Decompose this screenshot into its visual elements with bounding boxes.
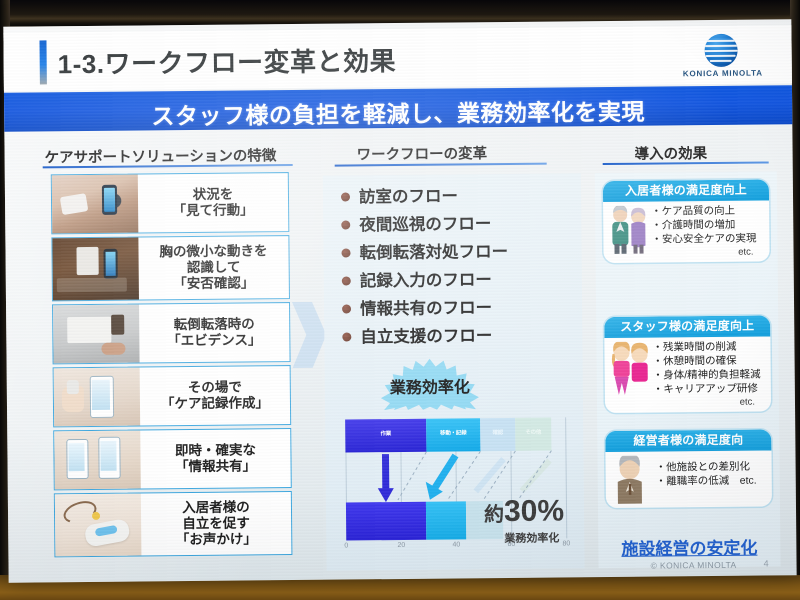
effect-box-title: 入居者様の満足度向上 (603, 179, 769, 202)
bar-segment-label: その他 (515, 430, 551, 436)
middle-column-heading: ワークフローの変革 (356, 142, 487, 164)
feature-card-caption: 即時・確実な 「情報共有」 (140, 442, 290, 475)
bullet-dot-icon (341, 192, 350, 201)
workflow-bullet: 記録入力のフロー (342, 266, 492, 291)
bar-segment-after-1 (346, 502, 426, 541)
workflow-panel: 訪室のフロー 夜間巡視のフロー 転倒転落対処フロー 記録入力のフロー 情報共有の… (323, 173, 585, 570)
logo-wordmark: KONICA MINOLTA (680, 68, 766, 78)
effect-item: 他施設との差別化 (656, 460, 768, 475)
effect-box[interactable]: スタッフ様の満足度向上 (604, 315, 771, 412)
room-monitor-smartphone-photo (52, 175, 139, 234)
x-axis-tick: 20 (397, 542, 405, 549)
effect-box[interactable]: 経営者様の満足度向 他施設との差別化 離職率の低減 etc. (605, 429, 772, 508)
effect-item-list: 残業時間の削減 休憩時間の確保 身体/精神的負担軽減 キャリアアップ研修 (652, 340, 767, 397)
right-column-rule (603, 161, 769, 165)
feature-card[interactable]: 即時・確実な 「情報共有」 (53, 428, 292, 490)
konica-minolta-logo: KONICA MINOLTA (679, 31, 766, 86)
header-accent-bar (39, 40, 46, 84)
feature-card-caption: 入居者様の 自立を促す 「お声かけ」 (141, 499, 291, 548)
fall-detection-evidence-photo (53, 305, 140, 364)
bullet-dot-icon (341, 248, 350, 257)
projected-slide-photo: 1-3.ワークフロー変革と効果 KONICA MINOLTA スタッフ様の負担を… (0, 0, 800, 600)
effect-item: 身体/精神的負担軽減 (653, 368, 767, 383)
feature-card-caption: 胸の微小な動きを 認識して 「安否確認」 (138, 243, 288, 292)
effect-item-list: ケア品質の向上 介護時間の増加 安心安全ケアの実現 (651, 204, 765, 247)
bed-sensor-tablet-photo (52, 238, 139, 301)
effect-item-list: 他施設との差別化 離職率の低減 etc. (655, 454, 767, 489)
voice-call-device-photo (55, 493, 142, 556)
conclusion-text: 施設経営の安定化 (598, 533, 780, 560)
flow-arrow-icon (292, 302, 327, 368)
slide-surface: 1-3.ワークフロー変革と効果 KONICA MINOLTA スタッフ様の負担を… (3, 19, 796, 583)
bullet-dot-icon (341, 220, 350, 229)
reduction-value: 30% (504, 494, 564, 528)
reduction-prefix: 約 (484, 504, 504, 526)
efficiency-starburst: 業務効率化 (355, 357, 505, 410)
starburst-label: 業務効率化 (355, 373, 505, 398)
effect-box[interactable]: 入居者様の満足度向上 (603, 179, 770, 262)
workflow-bullet: 情報共有のフロー (342, 294, 492, 319)
effect-item: 介護時間の増加 (651, 218, 765, 233)
reduction-annotation: 約30% (484, 494, 564, 529)
effect-item: 安心安全ケアの実現 (651, 232, 765, 247)
bar-segment-label: 移動・記録 (426, 430, 480, 437)
feature-card[interactable]: 転倒転落時の 「エビデンス」 (52, 302, 291, 364)
x-axis-tick: 0 (344, 543, 348, 550)
bar-segment-after-2 (426, 501, 466, 539)
bar-segment-label: 作業 (345, 431, 426, 438)
reduction-caption: 業務効率化 (504, 529, 559, 546)
efficiency-chart: 作業 移動・記録 確認 その他 (335, 417, 578, 559)
feature-card-caption: 状況を 「見て行動」 (138, 186, 288, 219)
workflow-bullet: 自立支援のフロー (342, 322, 492, 347)
subtitle-banner-text: スタッフ様の負担を軽減し、業務効率化を実現 (4, 91, 792, 133)
slide-header: 1-3.ワークフロー変革と効果 KONICA MINOLTA (3, 25, 792, 91)
workflow-bullet: 転倒転落対処フロー (341, 238, 508, 264)
workflow-bullet: 夜間巡視のフロー (341, 210, 491, 235)
globe-icon (704, 34, 737, 67)
feature-card[interactable]: その場で 「ケア記録作成」 (53, 365, 292, 427)
bar-segment-before-3: 確認 (480, 418, 515, 451)
effect-item: 休憩時間の確保 (653, 354, 767, 369)
bar-segment-before-4: その他 (515, 418, 551, 451)
bullet-dot-icon (342, 276, 351, 285)
bullet-dot-icon (342, 304, 351, 313)
bar-segment-label: 確認 (480, 430, 515, 436)
effect-item: 離職率の低減 etc. (656, 474, 768, 489)
feature-card-caption: 転倒転落時の 「エビデンス」 (139, 316, 289, 349)
bar-segment-before-2: 移動・記録 (426, 418, 480, 452)
effects-panel: 入居者様の満足度向上 (595, 171, 781, 568)
page-title: 1-3.ワークフロー変革と効果 (58, 41, 397, 81)
x-axis-tick: 80 (562, 540, 570, 547)
effect-item: キャリアアップ研修 (653, 382, 767, 397)
right-column-heading: 導入の効果 (634, 142, 707, 164)
footer-copyright: © KONICA MINOLTA (651, 560, 737, 571)
bullet-dot-icon (342, 332, 351, 341)
two-smartphones-sharing-photo (54, 430, 141, 489)
effect-etc: etc. (653, 396, 767, 408)
effect-box-title: 経営者様の満足度向 (605, 429, 771, 452)
effect-etc: etc. (651, 246, 765, 258)
effect-box-title: スタッフ様の満足度向上 (604, 315, 770, 338)
workflow-bullet: 訪室のフロー (341, 182, 458, 207)
effect-item: ケア品質の向上 (651, 204, 765, 219)
feature-card[interactable]: 状況を 「見て行動」 (51, 172, 290, 234)
feature-card-caption: その場で 「ケア記録作成」 (140, 379, 290, 412)
subtitle-banner: スタッフ様の負担を軽減し、業務効率化を実現 (4, 85, 792, 132)
x-axis-tick: 40 (452, 541, 460, 548)
feature-card[interactable]: 入居者様の 自立を促す 「お声かけ」 (54, 491, 293, 557)
manager-icon (609, 456, 653, 504)
feature-card[interactable]: 胸の微小な動きを 認識して 「安否確認」 (51, 235, 290, 301)
hand-holding-smartphone-record-photo (54, 368, 141, 427)
page-number: 4 (763, 558, 768, 568)
staff-pair-icon (608, 342, 652, 390)
effect-item: 残業時間の削減 (652, 340, 766, 355)
bar-segment-before-1: 作業 (345, 419, 426, 453)
elderly-couple-icon (607, 206, 651, 254)
